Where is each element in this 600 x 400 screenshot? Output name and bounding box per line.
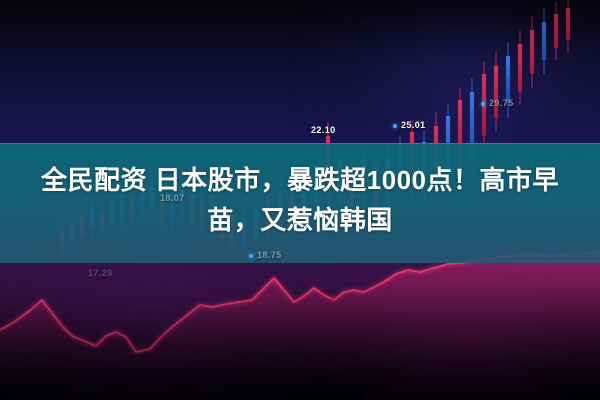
price-label-text: 18.75 bbox=[257, 250, 282, 260]
price-label-text: 29.75 bbox=[489, 98, 514, 108]
candle-body bbox=[506, 56, 510, 104]
price-label-text: 17.28 bbox=[88, 268, 113, 278]
price-marker-dot bbox=[481, 102, 485, 106]
news-banner-image: 全民配资 日本股市，暴跌超1000点！高市早苗，又惹恼韩国 22.1025.01… bbox=[0, 0, 600, 400]
headline-band-top-border bbox=[0, 143, 600, 144]
page-title: 全民配资 日本股市，暴跌超1000点！高市早苗，又惹恼韩国 bbox=[0, 160, 600, 240]
price-marker-dot bbox=[393, 124, 397, 128]
price-label: 17.28 bbox=[88, 268, 113, 278]
candle-body bbox=[518, 44, 522, 92]
price-label-text: 18.07 bbox=[160, 193, 185, 203]
price-label-text: 22.10 bbox=[311, 125, 336, 135]
candle-body bbox=[494, 66, 498, 118]
price-label: 18.07 bbox=[160, 193, 185, 203]
price-label: 22.10 bbox=[311, 125, 336, 135]
price-label: 18.75 bbox=[249, 250, 282, 260]
price-label-text: 25.01 bbox=[401, 120, 426, 130]
candle-body bbox=[530, 30, 534, 74]
candle-body bbox=[542, 22, 546, 60]
price-marker-dot bbox=[249, 254, 253, 258]
candle-body bbox=[554, 14, 558, 48]
price-label: 29.75 bbox=[481, 98, 514, 108]
candle-body bbox=[566, 8, 570, 40]
price-label: 25.01 bbox=[393, 120, 426, 130]
